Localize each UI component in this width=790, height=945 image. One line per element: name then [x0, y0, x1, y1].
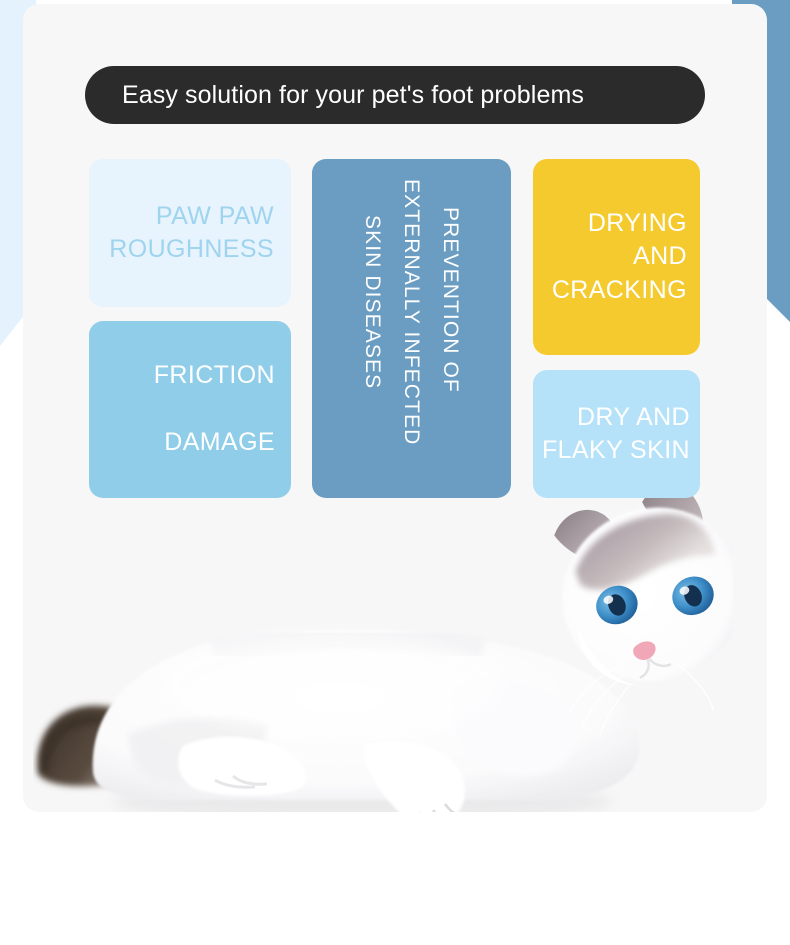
card-label-drying: DRYING AND CRACKING — [552, 207, 700, 308]
vertical-text-stack: PREVENTION OF EXTERNALLY INFECTED SKIN D… — [354, 171, 469, 498]
card-label-roughness: PAW PAW ROUGHNESS — [109, 200, 291, 267]
card-friction-damage[interactable]: FRICTION DAMAGE — [89, 321, 291, 498]
benefit-cards-grid: PAW PAW ROUGHNESS FRICTION DAMAGE PREVEN… — [23, 4, 767, 812]
card-drying-and-cracking[interactable]: DRYING AND CRACKING — [533, 159, 700, 355]
card-label-prevention-line-1: PREVENTION OF — [432, 207, 469, 393]
card-dry-and-flaky-skin[interactable]: DRY AND FLAKY SKIN — [533, 370, 700, 498]
card-label-prevention-line-3: SKIN DISEASES — [354, 215, 391, 389]
card-label-prevention-line-2: EXTERNALLY INFECTED — [393, 179, 430, 445]
main-panel: Easy solution for your pet's foot proble… — [23, 4, 767, 812]
page-title: Easy solution for your pet's foot proble… — [85, 81, 584, 110]
title-banner: Easy solution for your pet's foot proble… — [85, 66, 705, 124]
card-label-friction: FRICTION DAMAGE — [154, 359, 291, 460]
infographic-root: Easy solution for your pet's foot proble… — [0, 0, 790, 945]
card-label-flaky: DRY AND FLAKY SKIN — [542, 401, 700, 468]
card-prevention-of-skin-diseases[interactable]: PREVENTION OF EXTERNALLY INFECTED SKIN D… — [312, 159, 511, 498]
card-paw-paw-roughness[interactable]: PAW PAW ROUGHNESS — [89, 159, 291, 307]
